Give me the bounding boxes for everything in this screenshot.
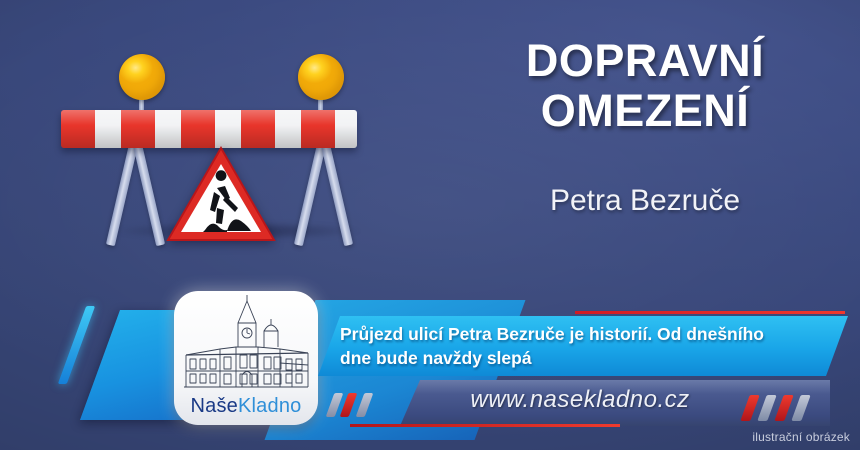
logo-wordmark-part1: Naše <box>191 395 239 417</box>
poster-subline: Petra Bezruče <box>440 183 850 219</box>
warning-lamp-icon-left <box>119 54 165 100</box>
logo-wordmark: NašeKladno <box>174 395 318 418</box>
red-rule-bottom <box>350 424 620 427</box>
warning-lamp-icon-right <box>298 54 344 100</box>
website-url[interactable]: www.nasekladno.cz <box>420 386 740 414</box>
poster-headline: DOPRAVNÍ OMEZENÍ <box>440 36 850 136</box>
poster-canvas: DOPRAVNÍ OMEZENÍ Petra Bezruče <box>0 0 860 450</box>
town-hall-sketch-icon <box>180 295 312 391</box>
caption-text: Průjezd ulicí Petra Bezruče je historií.… <box>340 322 790 370</box>
nasekladno-logo-badge[interactable]: NašeKladno <box>174 291 318 425</box>
image-credit: ilustrační obrázek <box>752 430 850 444</box>
roadworks-warning-sign-icon <box>165 145 277 243</box>
logo-wordmark-part2: Kladno <box>238 395 301 417</box>
barrier-leg-right <box>273 136 393 248</box>
striped-barrier-board <box>61 110 357 148</box>
red-rule-top <box>575 311 845 314</box>
road-closed-barrier-illustration <box>55 40 415 290</box>
